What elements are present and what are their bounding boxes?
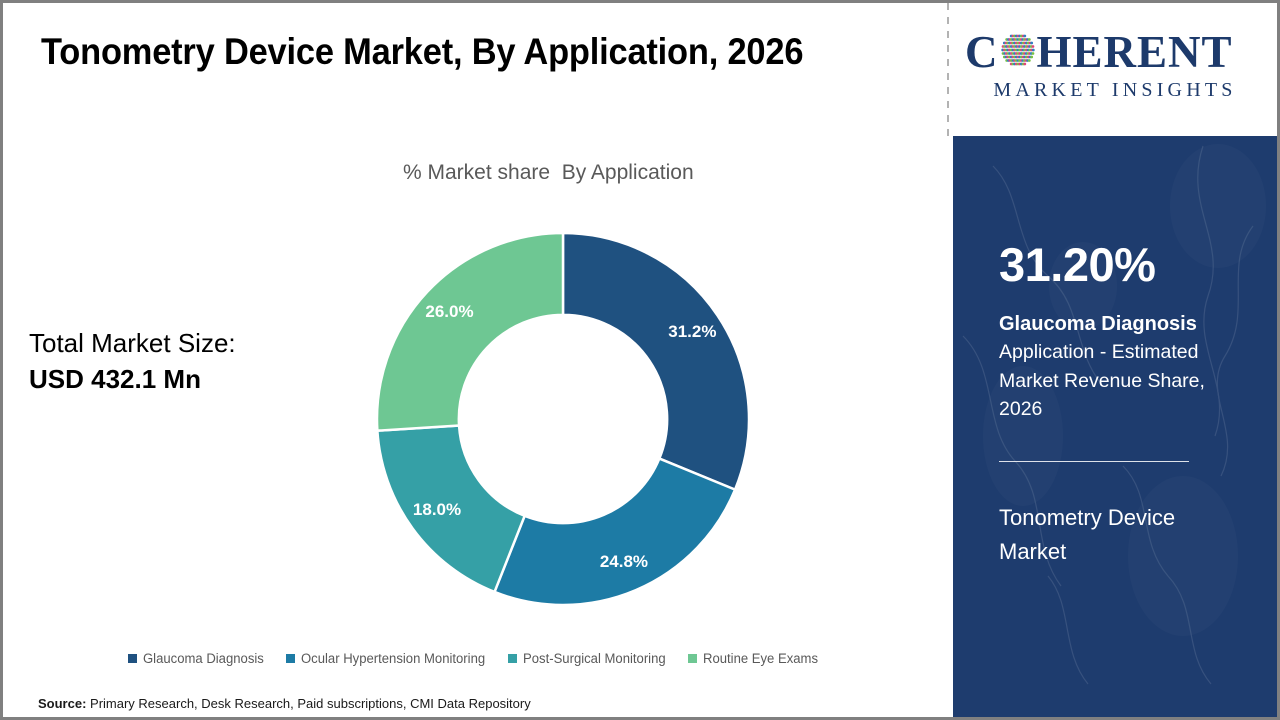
donut-slice-label: 24.8% bbox=[600, 552, 648, 571]
donut-slice-label: 26.0% bbox=[425, 302, 473, 321]
donut-slice-label: 31.2% bbox=[668, 322, 716, 341]
highlight-stat-divider bbox=[999, 461, 1189, 462]
total-market-size-value: USD 432.1 Mn bbox=[29, 361, 236, 397]
globe-dots-icon bbox=[1000, 32, 1036, 68]
legend-swatch-icon bbox=[128, 654, 137, 663]
logo-tagline: MARKET INSIGHTS bbox=[967, 79, 1263, 102]
donut-slice-group bbox=[377, 233, 749, 605]
legend-label: Ocular Hypertension Monitoring bbox=[301, 651, 485, 666]
donut-slice-label: 18.0% bbox=[413, 500, 461, 519]
page-title: Tonometry Device Market, By Application,… bbox=[41, 31, 841, 73]
logo-wordmark: C HERENT bbox=[965, 29, 1265, 75]
highlight-stat-description: Application - Estimated Market Revenue S… bbox=[999, 338, 1239, 424]
infographic-canvas: Tonometry Device Market, By Application,… bbox=[0, 0, 1280, 720]
legend-item[interactable]: Ocular Hypertension Monitoring bbox=[286, 651, 491, 666]
total-market-size-block: Total Market Size: USD 432.1 Mn bbox=[29, 325, 236, 397]
donut-slice bbox=[495, 459, 736, 605]
highlight-stat-percent: 31.20% bbox=[999, 241, 1155, 288]
legend-item[interactable]: Post-Surgical Monitoring bbox=[508, 651, 670, 666]
chart-panel: Tonometry Device Market, By Application,… bbox=[3, 3, 947, 717]
legend-swatch-icon bbox=[286, 654, 295, 663]
logo-wordmark-rest: HERENT bbox=[1037, 30, 1233, 75]
legend-label: Routine Eye Exams bbox=[703, 651, 818, 666]
highlight-stat-content: 31.20% Glaucoma Diagnosis Application - … bbox=[999, 136, 1249, 717]
legend-item[interactable]: Routine Eye Exams bbox=[688, 651, 822, 666]
donut-slice bbox=[377, 233, 563, 431]
donut-chart-svg: 31.2%24.8%18.0%26.0% bbox=[375, 231, 751, 607]
donut-chart: 31.2%24.8%18.0%26.0% bbox=[375, 231, 751, 607]
brand-logo: C HERENT MARKET INSIGHTS bbox=[953, 3, 1277, 136]
logo-letter-c: C bbox=[965, 30, 999, 75]
highlight-stat-panel: 31.20% Glaucoma Diagnosis Application - … bbox=[953, 136, 1277, 717]
highlight-stat-footer: Tonometry Device Market bbox=[999, 501, 1245, 569]
right-column: C HERENT MARKET INSIGHTS bbox=[953, 3, 1277, 717]
chart-legend: Glaucoma DiagnosisOcular Hypertension Mo… bbox=[3, 651, 947, 666]
source-text: Primary Research, Desk Research, Paid su… bbox=[86, 696, 530, 711]
legend-swatch-icon bbox=[688, 654, 697, 663]
donut-slice bbox=[563, 233, 749, 490]
total-market-size-label: Total Market Size: bbox=[29, 325, 236, 361]
highlight-stat-segment-name: Glaucoma Diagnosis bbox=[999, 311, 1197, 337]
source-label: Source: bbox=[38, 696, 86, 711]
panel-divider bbox=[947, 3, 949, 136]
legend-label: Post-Surgical Monitoring bbox=[523, 651, 666, 666]
legend-label: Glaucoma Diagnosis bbox=[143, 651, 264, 666]
chart-subtitle: % Market share By Application bbox=[403, 161, 694, 185]
legend-swatch-icon bbox=[508, 654, 517, 663]
source-line: Source: Primary Research, Desk Research,… bbox=[38, 696, 531, 711]
legend-item[interactable]: Glaucoma Diagnosis bbox=[128, 651, 268, 666]
